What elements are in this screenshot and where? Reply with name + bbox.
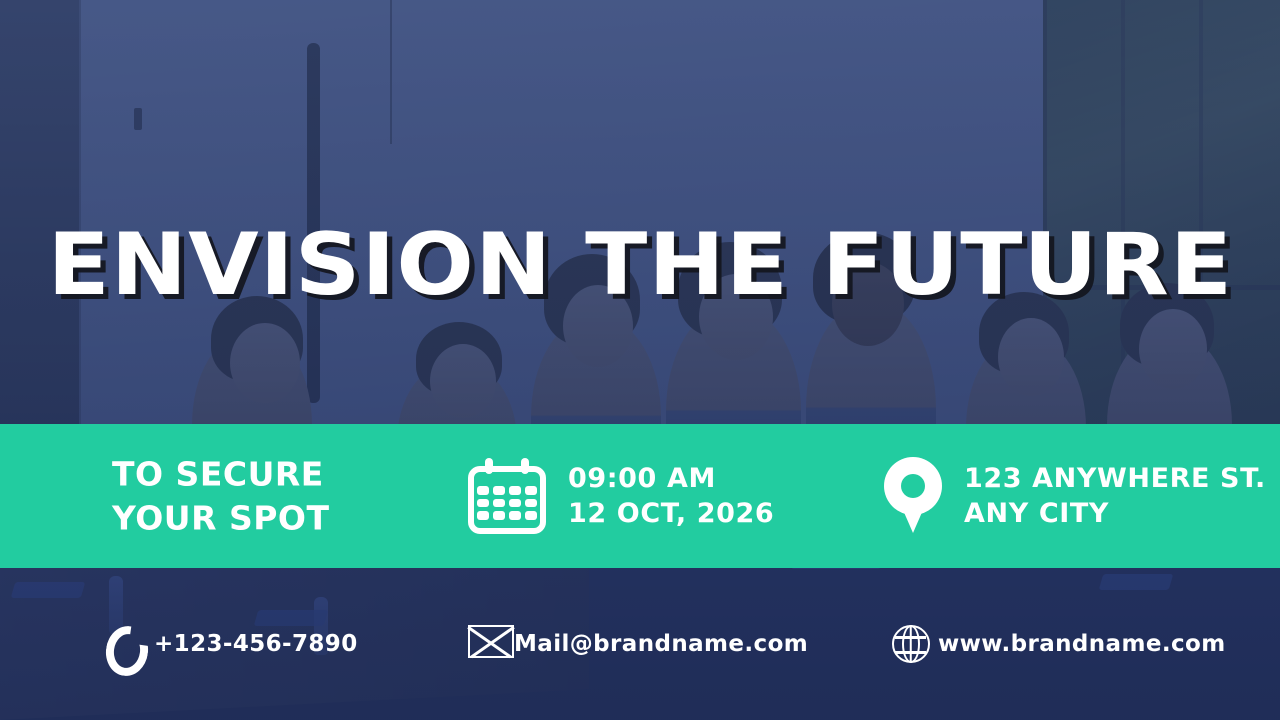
cta-line-2: YOUR SPOT bbox=[112, 496, 330, 540]
header-gradient-overlay bbox=[0, 0, 1280, 424]
headline-container: ENVISION THE FUTURE bbox=[0, 222, 1280, 308]
event-date-text: 09:00 AM 12 OCT, 2026 bbox=[568, 461, 774, 531]
contact-phone[interactable]: +123-456-7890 bbox=[100, 631, 358, 657]
event-date-block: 09:00 AM 12 OCT, 2026 bbox=[468, 458, 774, 534]
event-day: 12 OCT, 2026 bbox=[568, 496, 774, 531]
page-title: ENVISION THE FUTURE bbox=[47, 222, 1233, 308]
contact-email[interactable]: Mail@brandname.com bbox=[468, 631, 808, 657]
event-time: 09:00 AM bbox=[568, 461, 774, 496]
contact-bar: +123-456-7890 Mail@brandname.com www.bra… bbox=[0, 568, 1280, 720]
email-address: Mail@brandname.com bbox=[514, 631, 808, 657]
contact-website[interactable]: www.brandname.com bbox=[892, 631, 1226, 657]
cta-text: TO SECURE YOUR SPOT bbox=[112, 452, 330, 539]
address-line-2: ANY CITY bbox=[964, 496, 1266, 531]
phone-icon bbox=[100, 625, 138, 663]
map-pin-icon bbox=[884, 457, 942, 535]
website-url: www.brandname.com bbox=[938, 631, 1226, 657]
event-location-block: 123 ANYWHERE ST. ANY CITY bbox=[884, 457, 1266, 535]
info-band: TO SECURE YOUR SPOT 09:00 AM 12 OCT, 202… bbox=[0, 424, 1280, 568]
envelope-icon bbox=[468, 625, 506, 663]
calendar-icon bbox=[468, 458, 546, 534]
event-banner: ENVISION THE FUTURE TO SECURE YOUR SPOT … bbox=[0, 0, 1280, 720]
event-location-text: 123 ANYWHERE ST. ANY CITY bbox=[964, 461, 1266, 531]
cta-line-1: TO SECURE bbox=[112, 452, 330, 496]
globe-icon bbox=[892, 625, 930, 663]
address-line-1: 123 ANYWHERE ST. bbox=[964, 461, 1266, 496]
phone-number: +123-456-7890 bbox=[154, 631, 358, 657]
